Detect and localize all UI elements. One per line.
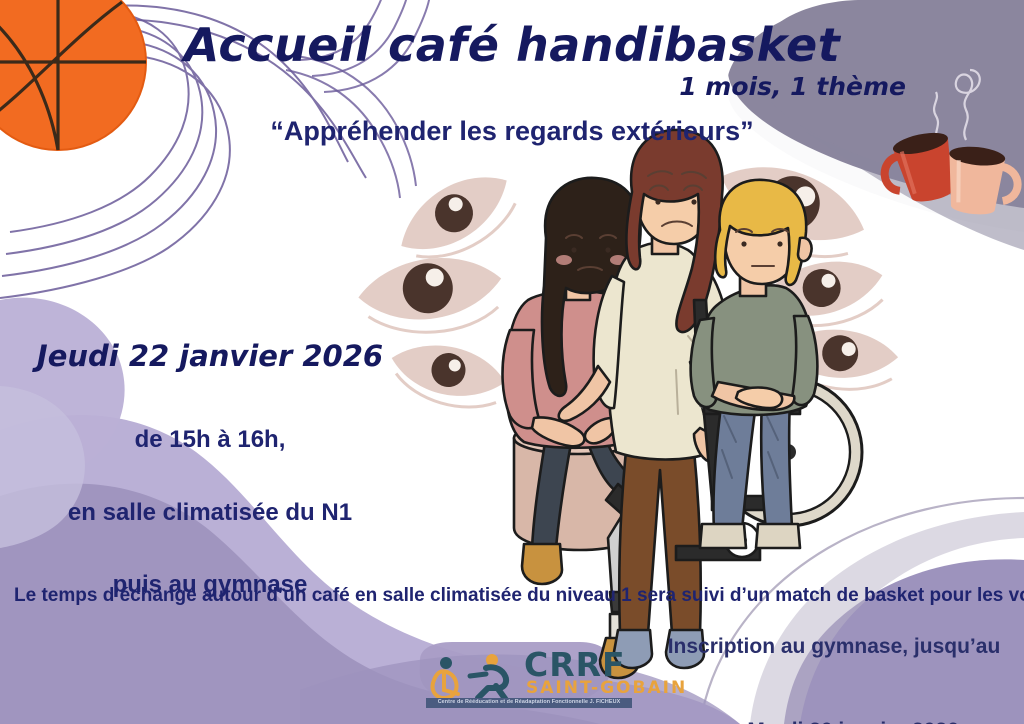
wheelchair-athlete-icon	[433, 657, 458, 698]
event-note: Le temps d’échange autour d’un café en s…	[14, 584, 624, 607]
runner-icon	[470, 654, 506, 700]
event-date: Jeudi 22 janvier 2026	[20, 338, 400, 376]
event-location: en salle climatisée du N1	[20, 497, 400, 528]
crrf-logo-name: CRRF	[524, 648, 626, 681]
poster-subtitle: 1 mois, 1 thème	[0, 72, 906, 101]
poster-canvas: Accueil café handibasket 1 mois, 1 thème…	[0, 0, 1024, 724]
inscription-line-2: Mardi 20 janvier 2026	[660, 717, 1008, 724]
event-time: de 15h à 16h,	[20, 424, 400, 455]
crrf-logo-site: SAINT-GOBAIN	[526, 680, 687, 697]
poster-theme: “Appréhender les regards extérieurs”	[0, 116, 1024, 147]
crrf-logo: CRRF SAINT-GOBAIN Centre de Rééducation …	[430, 650, 720, 716]
crrf-logo-tagline: Centre de Rééducation et de Réadaptation…	[426, 698, 632, 708]
page-title: Accueil café handibasket	[0, 18, 1024, 72]
coffee-cup-icon-right	[943, 144, 1021, 218]
